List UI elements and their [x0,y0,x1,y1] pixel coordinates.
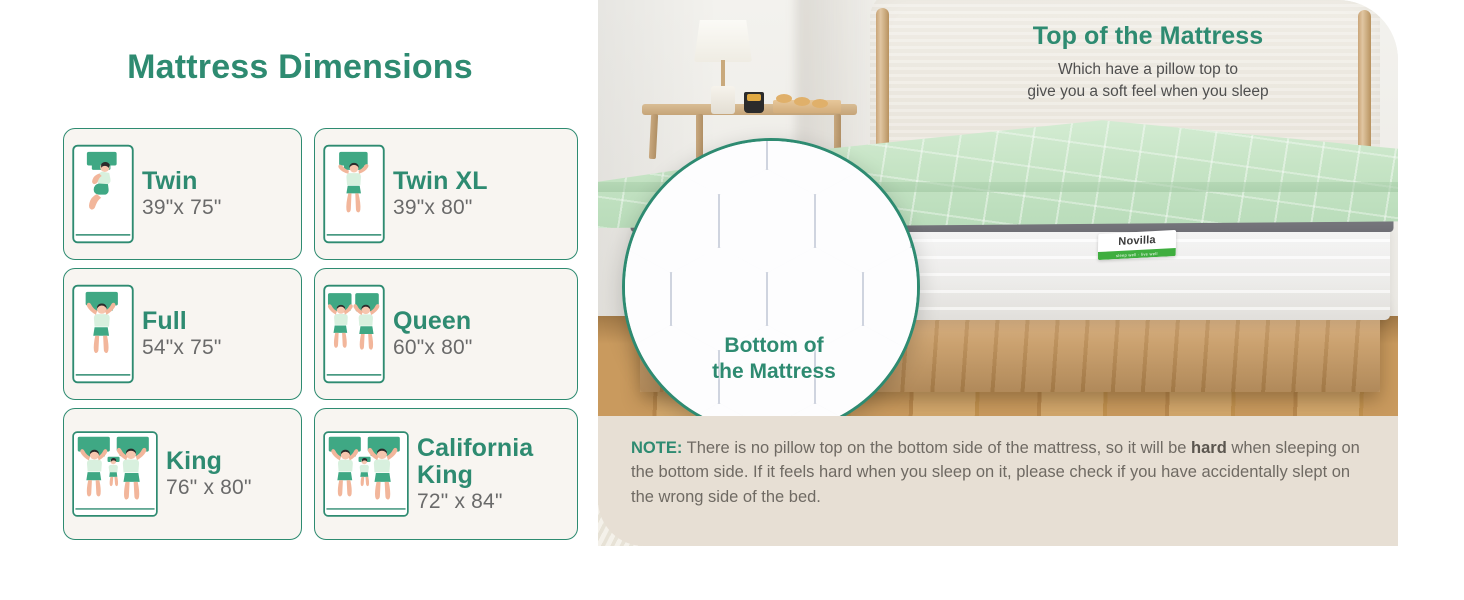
size-card-text: Twin 39"x 75" [142,168,222,220]
size-card-dimensions: 39"x 75" [142,197,222,220]
size-card-name: King [166,448,252,475]
mattress-king-icon [72,428,158,520]
mattress-twin-icon [72,144,134,244]
croissant-icon [776,94,792,103]
size-card-dimensions: 76" x 80" [166,477,252,500]
note-part-1: There is no pillow top on the bottom sid… [682,439,1191,457]
size-card-name: Twin XL [393,168,488,195]
size-card-grid: Twin 39"x 75" Twin XL 39"x 80" [63,128,578,540]
note-strong-word: hard [1191,439,1227,457]
croissant-icon [812,99,828,108]
size-card-dimensions: 60"x 80" [393,337,473,360]
size-card-king[interactable]: King 76" x 80" [63,408,302,540]
size-card-dimensions: 39"x 80" [393,197,488,220]
size-card-name: California King [417,435,533,489]
magnifier-circle-bottom-of-mattress: Bottom of the Mattress [622,138,920,436]
mattress-dimensions-infographic: Mattress Dimensions Twin 39"x 75" [0,0,1464,600]
size-card-california-king[interactable]: California King 72" x 84" [314,408,578,540]
size-card-full[interactable]: Full 54"x 75" [63,268,302,400]
lamp-shade-icon [694,20,752,62]
mattress-twin-xl-icon [323,144,385,244]
note-panel: NOTE: There is no pillow top on the bott… [598,416,1398,546]
size-card-twin-xl[interactable]: Twin XL 39"x 80" [314,128,578,260]
croissant-icon [794,97,810,106]
note-label: NOTE: [631,439,682,457]
size-card-name: Twin [142,168,222,195]
size-card-text: Queen 60"x 80" [393,308,473,360]
size-card-text: King 76" x 80" [166,448,252,500]
page-title: Mattress Dimensions [0,48,600,87]
size-card-name: Full [142,308,222,335]
size-card-text: Full 54"x 75" [142,308,222,360]
size-card-dimensions: 72" x 84" [417,491,533,514]
size-card-text: California King 72" x 84" [417,435,533,514]
size-card-text: Twin XL 39"x 80" [393,168,488,220]
brand-label-tag: Novilla sleep well · live well [1098,230,1176,260]
size-card-name: Queen [393,308,473,335]
lamp-base [711,86,735,114]
size-card-queen[interactable]: Queen 60"x 80" [314,268,578,400]
magnifier-label: Bottom of the Mattress [625,333,920,385]
mattress-queen-icon [323,284,385,384]
top-of-mattress-heading-block: Top of the Mattress Which have a pillow … [928,22,1368,103]
top-heading: Top of the Mattress [928,22,1368,51]
coffee-cup-icon [744,92,764,113]
left-panel: Mattress Dimensions Twin 39"x 75" [0,0,600,600]
size-card-twin[interactable]: Twin 39"x 75" [63,128,302,260]
top-subtext: Which have a pillow top to give you a so… [928,59,1368,103]
size-card-dimensions: 54"x 75" [142,337,222,360]
mattress-cal-king-icon [323,428,409,520]
hexagon-quilt-pattern [622,138,920,436]
note-text: NOTE: There is no pillow top on the bott… [631,436,1370,509]
mattress-full-icon [72,284,134,384]
